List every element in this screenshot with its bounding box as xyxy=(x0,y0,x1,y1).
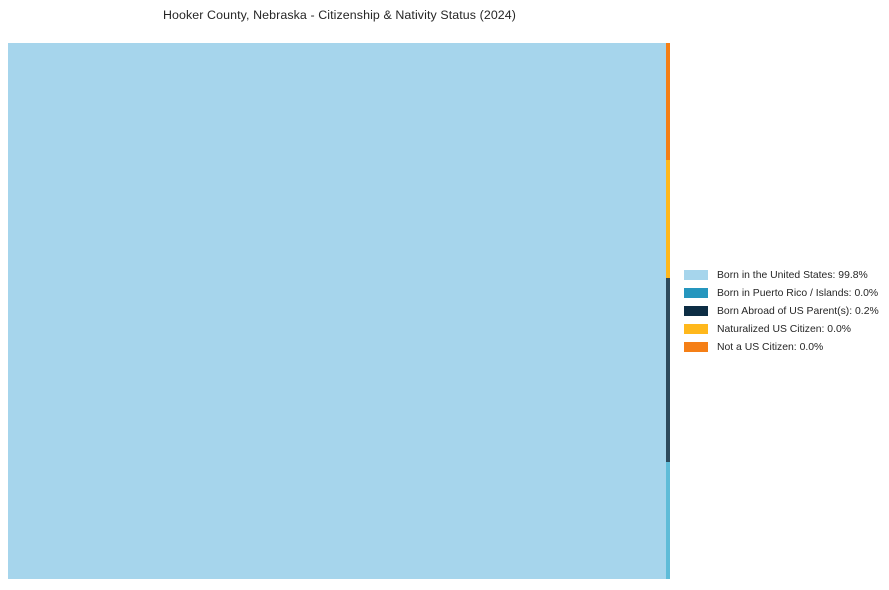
treemap-sliver-column xyxy=(666,43,670,579)
treemap-plot-area xyxy=(8,43,670,579)
legend-swatch-not-a-us-citizen xyxy=(684,342,708,352)
citizenship-nativity-treemap-figure: Hooker County, Nebraska - Citizenship & … xyxy=(0,0,889,590)
treemap-tile-naturalized-us-citizen[interactable] xyxy=(666,160,670,278)
chart-title: Hooker County, Nebraska - Citizenship & … xyxy=(0,8,679,22)
legend-label-naturalized-us-citizen: Naturalized US Citizen: 0.0% xyxy=(717,324,851,335)
legend-item-naturalized-us-citizen[interactable]: Naturalized US Citizen: 0.0% xyxy=(684,320,884,338)
legend-item-born-abroad-of-us-parents[interactable]: Born Abroad of US Parent(s): 0.2% xyxy=(684,302,884,320)
legend-swatch-born-in-united-states xyxy=(684,270,708,280)
legend-label-born-in-puerto-rico-islands: Born in Puerto Rico / Islands: 0.0% xyxy=(717,288,878,299)
treemap-tile-born-in-united-states[interactable] xyxy=(8,43,666,579)
legend-item-not-a-us-citizen[interactable]: Not a US Citizen: 0.0% xyxy=(684,338,884,356)
treemap-tile-not-a-us-citizen[interactable] xyxy=(666,43,670,160)
legend-item-born-in-united-states[interactable]: Born in the United States: 99.8% xyxy=(684,266,884,284)
legend-label-born-in-united-states: Born in the United States: 99.8% xyxy=(717,270,868,281)
treemap-tile-born-abroad-of-us-parents[interactable] xyxy=(666,278,670,462)
legend-item-born-in-puerto-rico-islands[interactable]: Born in Puerto Rico / Islands: 0.0% xyxy=(684,284,884,302)
treemap-tile-born-in-puerto-rico-islands[interactable] xyxy=(666,462,670,579)
legend-swatch-born-abroad-of-us-parents xyxy=(684,306,708,316)
legend-swatch-born-in-puerto-rico-islands xyxy=(684,288,708,298)
legend-swatch-naturalized-us-citizen xyxy=(684,324,708,334)
legend-label-born-abroad-of-us-parents: Born Abroad of US Parent(s): 0.2% xyxy=(717,306,879,317)
chart-legend: Born in the United States: 99.8% Born in… xyxy=(684,266,884,356)
legend-label-not-a-us-citizen: Not a US Citizen: 0.0% xyxy=(717,342,823,353)
